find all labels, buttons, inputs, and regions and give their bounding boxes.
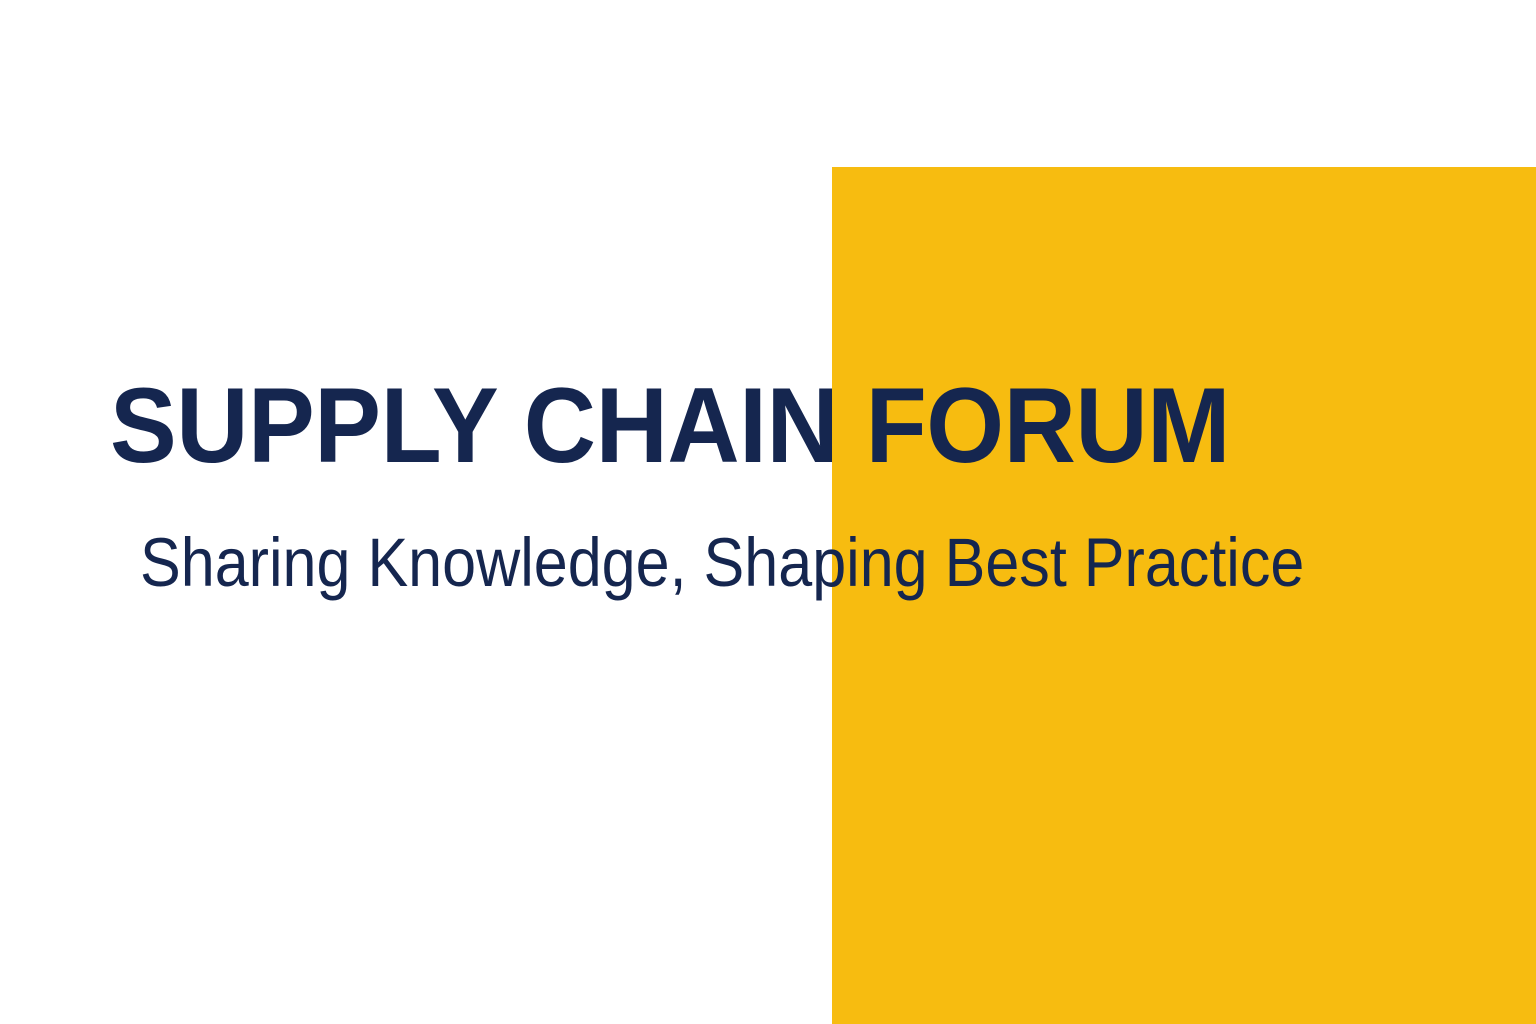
page-title: SUPPLY CHAIN FORUM <box>110 372 1230 479</box>
title-slide: SUPPLY CHAIN FORUM Sharing Knowledge, Sh… <box>0 0 1536 1024</box>
slide-text-layer: SUPPLY CHAIN FORUM Sharing Knowledge, Sh… <box>0 0 1536 1024</box>
page-subtitle: Sharing Knowledge, Shaping Best Practice <box>140 528 1304 597</box>
